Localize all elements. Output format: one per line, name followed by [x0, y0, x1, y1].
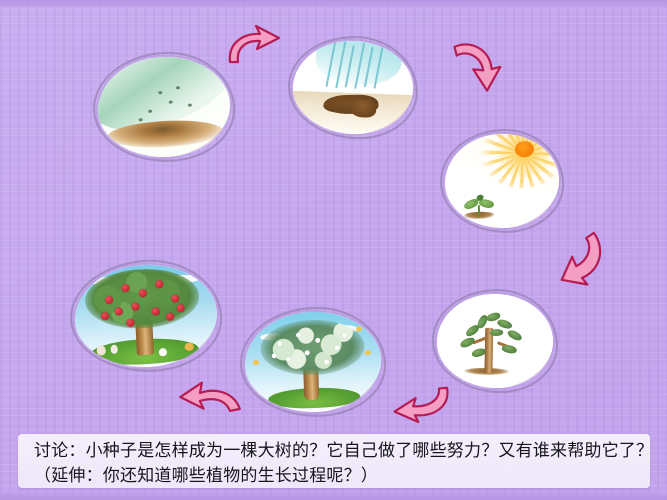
caption-line-2: （延伸：你还知道哪些植物的生长过程呢？）	[34, 464, 636, 489]
panel-young-tree[interactable]	[431, 288, 559, 394]
arrow-seed-to-rain	[222, 22, 300, 68]
caption-line-1: 讨论：小种子是怎样成为一棵大树的？它自己做了哪些努力？又有谁来帮助它了？	[34, 439, 636, 464]
growth-cycle-poster: 讨论：小种子是怎样成为一棵大树的？它自己做了哪些努力？又有谁来帮助它了？ （延伸…	[0, 0, 667, 500]
arrow-sun-to-young-tree	[555, 225, 613, 292]
arrow-young-tree-to-blossom	[379, 379, 456, 426]
top-edge-band	[0, 0, 667, 7]
panel-rain-soil[interactable]	[286, 34, 420, 141]
panel-sun-sprout[interactable]	[438, 127, 566, 235]
arrow-blossom-to-fruit	[170, 364, 249, 421]
arrow-rain-to-sun	[441, 32, 513, 100]
discussion-caption-box: 讨论：小种子是怎样成为一棵大树的？它自己做了哪些努力？又有谁来帮助它了？ （延伸…	[18, 434, 650, 488]
panel-blossom-tree[interactable]	[238, 304, 388, 419]
panel-seed-falling[interactable]	[90, 48, 238, 165]
bottom-edge-band	[0, 491, 667, 500]
panel-fruit-tree[interactable]	[67, 256, 225, 376]
